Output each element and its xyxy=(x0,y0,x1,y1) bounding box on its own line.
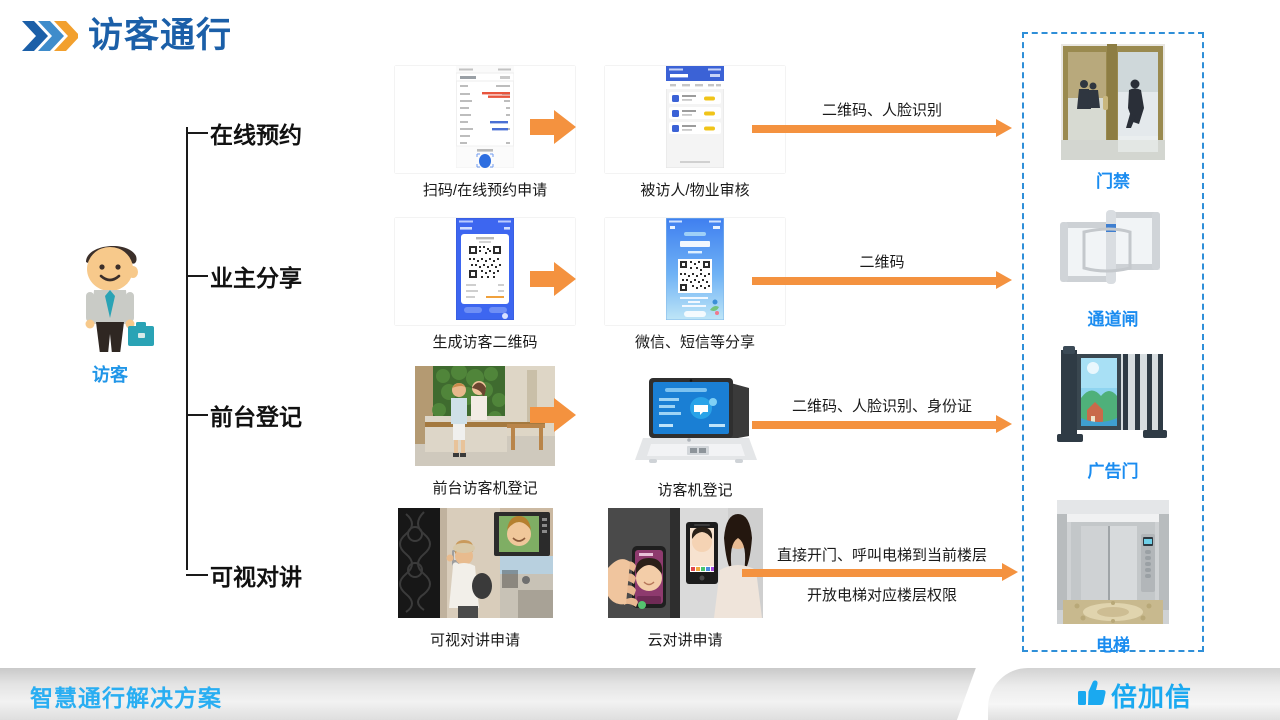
device-item-2: 广告门 xyxy=(1024,346,1202,482)
step-arrow-icon xyxy=(530,110,576,144)
cloud-intercom-photo xyxy=(575,508,795,623)
brand-block: 倍加信 xyxy=(1078,677,1192,714)
step-caption: 可视对讲申请 xyxy=(365,629,585,650)
flow-step: 访客机登记 xyxy=(590,364,800,500)
branch-tick xyxy=(186,574,208,576)
flow-row-1: 生成访客二维码 xyxy=(340,218,1040,348)
device-item-3: 电梯 xyxy=(1024,500,1202,656)
outcome-arrow-label-top: 直接开门、呼叫电梯到当前楼层 xyxy=(732,544,1032,565)
slide-footer: 智慧通行解决方案 倍加信 xyxy=(0,668,1280,720)
step-arrow-icon xyxy=(530,262,576,296)
brand-name: 倍加信 xyxy=(1111,677,1192,714)
glass-door-access-photo xyxy=(1024,44,1202,165)
branch-item-2: 前台登记 xyxy=(186,398,302,432)
branch-label: 可视对讲 xyxy=(210,558,302,592)
branch-item-1: 业主分享 xyxy=(186,259,302,293)
flow-step: 前台访客机登记 xyxy=(375,366,595,498)
branch-tick xyxy=(186,275,208,277)
flow-row-3: 可视对讲申请 xyxy=(340,508,1040,648)
flow-step: 云对讲申请 xyxy=(575,508,795,650)
step-caption: 访客机登记 xyxy=(590,479,800,500)
elevator-interior-photo xyxy=(1024,500,1202,629)
step-caption: 前台访客机登记 xyxy=(375,477,595,498)
outcome-arrow-label: 二维码 xyxy=(752,251,1012,272)
speed-gate-turnstile-photo xyxy=(1024,196,1202,303)
step-caption: 被访人/物业审核 xyxy=(605,179,785,200)
footer-title: 智慧通行解决方案 xyxy=(30,679,222,713)
branch-label: 业主分享 xyxy=(210,259,302,293)
businessman-visitor-icon xyxy=(50,339,170,356)
outcome-arrow-icon xyxy=(752,276,1012,286)
branch-label: 前台登记 xyxy=(210,398,302,432)
outcome-arrow-label: 二维码、人脸识别 xyxy=(752,99,1012,120)
visitor-actor: 访客 xyxy=(45,232,175,387)
step-caption: 微信、短信等分享 xyxy=(605,331,785,352)
device-label: 门禁 xyxy=(1024,167,1202,192)
device-item-0: 门禁 xyxy=(1024,44,1202,192)
device-label: 通道闸 xyxy=(1024,305,1202,330)
outcome-arrow-label-bottom: 开放电梯对应楼层权限 xyxy=(732,584,1032,605)
flow-step: 可视对讲申请 xyxy=(365,508,585,650)
outcome-arrow-label: 二维码、人脸识别、身份证 xyxy=(742,395,1022,416)
step-caption: 扫码/在线预约申请 xyxy=(395,179,575,200)
door-intercom-photo xyxy=(365,508,585,623)
visitor-kiosk-photo xyxy=(590,364,800,473)
flow-row-2: 前台访客机登记 xyxy=(340,366,1040,496)
step-arrow-icon xyxy=(530,398,576,432)
step-caption: 云对讲申请 xyxy=(575,629,795,650)
device-item-1: 通道闸 xyxy=(1024,196,1202,330)
device-outcome-panel: 门禁 xyxy=(1022,32,1204,652)
branch-tick xyxy=(186,132,208,134)
outcome-arrow-icon xyxy=(752,420,1012,430)
branch-label: 在线预约 xyxy=(210,116,302,150)
outcome-arrow-icon xyxy=(752,124,1012,134)
advertising-gate-photo xyxy=(1024,346,1202,455)
flow-row-0: 扫码/在线预约申请 xyxy=(340,66,1040,196)
visitor-label: 访客 xyxy=(45,361,175,387)
triple-chevron-icon xyxy=(22,19,78,53)
branch-bracket xyxy=(186,127,188,570)
branch-item-3: 可视对讲 xyxy=(186,558,302,592)
step-caption: 生成访客二维码 xyxy=(395,331,575,352)
branch-tick xyxy=(186,414,208,416)
device-label: 电梯 xyxy=(1024,631,1202,656)
device-label: 广告门 xyxy=(1024,457,1202,482)
slide-canvas: 访客通行 xyxy=(0,0,1280,720)
thumbs-up-icon xyxy=(1078,680,1106,711)
slide-header: 访客通行 xyxy=(22,18,232,53)
branch-item-0: 在线预约 xyxy=(186,116,302,150)
outcome-arrow-icon xyxy=(742,568,1022,578)
page-title: 访客通行 xyxy=(88,18,232,53)
